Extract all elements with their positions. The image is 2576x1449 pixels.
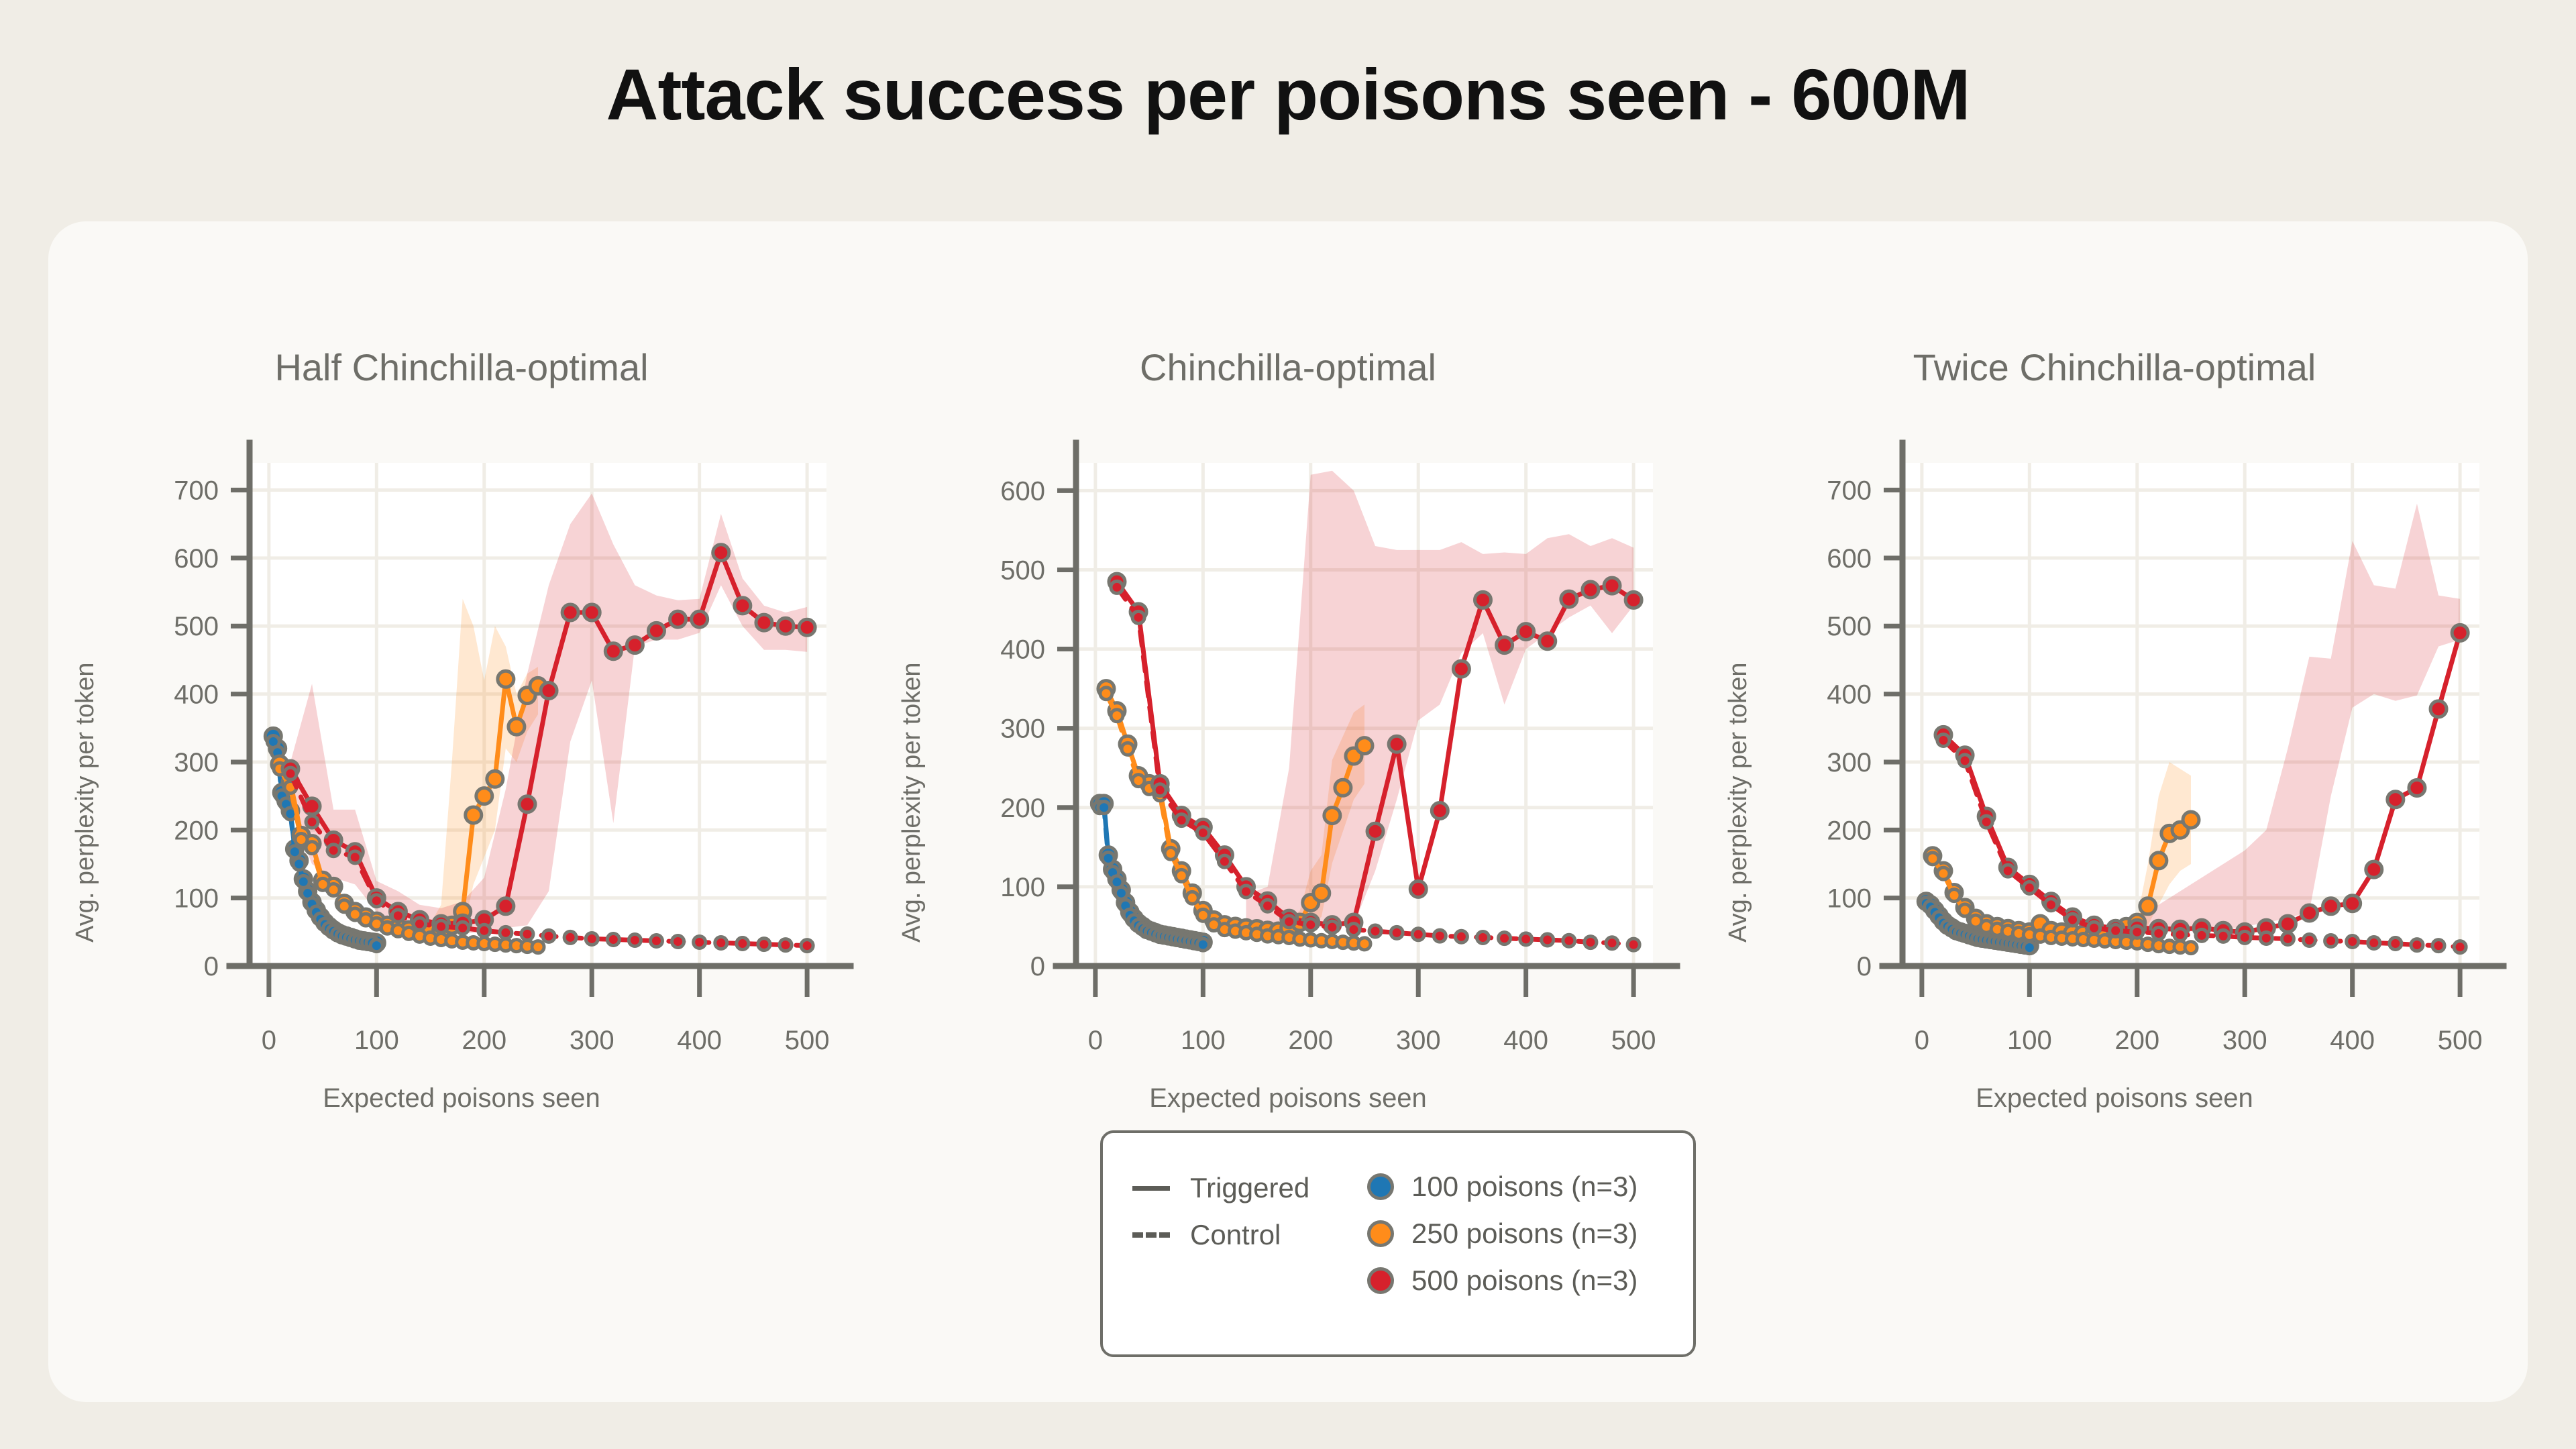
solid-line-icon <box>1132 1186 1170 1191</box>
svg-text:200: 200 <box>1000 794 1045 823</box>
plot-area: 01002003004005006007000100200300400500 <box>48 221 875 1402</box>
svg-text:400: 400 <box>1503 1026 1548 1055</box>
series-color-swatch-icon <box>1367 1267 1394 1294</box>
svg-text:0: 0 <box>1088 1026 1103 1055</box>
svg-text:300: 300 <box>174 748 219 777</box>
legend-series-label: 100 poisons (n=3) <box>1411 1171 1638 1203</box>
svg-text:100: 100 <box>354 1026 399 1055</box>
subplot-title: Chinchilla-optimal <box>875 345 1701 389</box>
svg-text:400: 400 <box>2330 1026 2375 1055</box>
svg-text:500: 500 <box>785 1026 830 1055</box>
svg-text:400: 400 <box>1827 680 1872 710</box>
plot-area: 01002003004005006007000100200300400500 <box>1701 221 2528 1402</box>
svg-text:500: 500 <box>2438 1026 2483 1055</box>
svg-text:600: 600 <box>1827 544 1872 574</box>
page-title: Attack success per poisons seen - 600M <box>0 52 2576 136</box>
legend-series-100: 100 poisons (n=3) <box>1367 1171 1638 1203</box>
svg-text:100: 100 <box>1181 1026 1226 1055</box>
svg-text:0: 0 <box>262 1026 276 1055</box>
legend-style-label: Control <box>1190 1219 1281 1251</box>
svg-text:300: 300 <box>570 1026 614 1055</box>
svg-text:300: 300 <box>2222 1026 2267 1055</box>
legend-style-label: Triggered <box>1190 1172 1309 1204</box>
svg-text:0: 0 <box>1030 952 1045 981</box>
svg-text:100: 100 <box>174 884 219 914</box>
y-axis-label: Avg. perplexity per token <box>71 662 100 943</box>
svg-text:300: 300 <box>1000 714 1045 744</box>
svg-text:300: 300 <box>1396 1026 1441 1055</box>
svg-text:0: 0 <box>204 952 219 981</box>
series-color-swatch-icon <box>1367 1220 1394 1247</box>
dashed-line-icon <box>1132 1232 1170 1238</box>
subplot-2: Twice Chinchilla-optimal Avg. perplexity… <box>1701 221 2528 1402</box>
svg-text:700: 700 <box>174 476 219 506</box>
svg-text:200: 200 <box>462 1026 506 1055</box>
svg-text:100: 100 <box>1000 873 1045 902</box>
svg-text:400: 400 <box>174 680 219 710</box>
legend-series-250: 250 poisons (n=3) <box>1367 1218 1638 1250</box>
y-axis-label: Avg. perplexity per token <box>1724 662 1753 943</box>
svg-text:0: 0 <box>1857 952 1872 981</box>
svg-text:500: 500 <box>1000 555 1045 585</box>
series-color-swatch-icon <box>1367 1173 1394 1200</box>
svg-text:100: 100 <box>1827 884 1872 914</box>
svg-text:600: 600 <box>174 544 219 574</box>
svg-text:200: 200 <box>1288 1026 1333 1055</box>
subplot-0: Half Chinchilla-optimal Avg. perplexity … <box>48 221 875 1402</box>
subplot-title: Twice Chinchilla-optimal <box>1701 345 2528 389</box>
legend-series-label: 250 poisons (n=3) <box>1411 1218 1638 1250</box>
svg-text:300: 300 <box>1827 748 1872 777</box>
y-axis-label: Avg. perplexity per token <box>898 662 926 943</box>
svg-text:0: 0 <box>1915 1026 1929 1055</box>
svg-text:600: 600 <box>1000 476 1045 506</box>
chart-card: Half Chinchilla-optimal Avg. perplexity … <box>48 221 2528 1402</box>
legend-style-triggered: Triggered <box>1132 1172 1309 1204</box>
subplot-title: Half Chinchilla-optimal <box>48 345 875 389</box>
svg-text:500: 500 <box>1611 1026 1656 1055</box>
svg-text:400: 400 <box>677 1026 722 1055</box>
svg-text:500: 500 <box>1827 612 1872 641</box>
x-axis-label: Expected poisons seen <box>875 1083 1701 1114</box>
svg-text:200: 200 <box>2114 1026 2159 1055</box>
svg-text:200: 200 <box>174 816 219 845</box>
x-axis-label: Expected poisons seen <box>48 1083 875 1114</box>
legend-series-label: 500 poisons (n=3) <box>1411 1265 1638 1297</box>
svg-text:700: 700 <box>1827 476 1872 506</box>
svg-text:100: 100 <box>2007 1026 2052 1055</box>
chart-legend: Triggered Control 100 poisons (n=3) 250 … <box>1100 1130 1696 1357</box>
x-axis-label: Expected poisons seen <box>1701 1083 2528 1114</box>
svg-text:400: 400 <box>1000 635 1045 665</box>
svg-text:500: 500 <box>174 612 219 641</box>
legend-style-control: Control <box>1132 1219 1281 1251</box>
svg-text:200: 200 <box>1827 816 1872 845</box>
legend-series-500: 500 poisons (n=3) <box>1367 1265 1638 1297</box>
